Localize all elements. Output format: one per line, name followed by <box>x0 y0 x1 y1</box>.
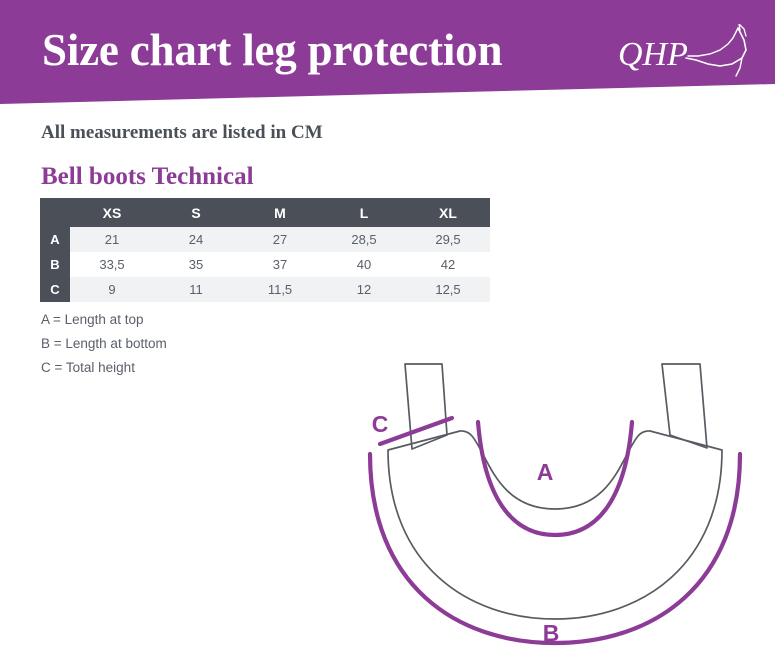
size-chart-table: XS S M L XL A 21 24 27 28,5 29,5 B 33,5 … <box>40 198 490 302</box>
cell-b-xl: 42 <box>406 252 490 277</box>
cell-a-xs: 21 <box>70 227 154 252</box>
bell-boot-diagram: A B C <box>350 345 775 661</box>
diagram-label-c: C <box>372 411 389 437</box>
page-title: Size chart leg protection <box>42 24 502 76</box>
legend-item-a: A = Length at top <box>41 308 167 332</box>
measurement-unit-note: All measurements are listed in CM <box>41 121 323 145</box>
diagram-label-a: A <box>537 459 554 485</box>
cell-b-xs: 33,5 <box>70 252 154 277</box>
measurement-legend: A = Length at top B = Length at bottom C… <box>41 308 167 380</box>
horse-head-icon <box>684 24 762 82</box>
cell-c-s: 11 <box>154 277 238 302</box>
cell-b-m: 37 <box>238 252 322 277</box>
row-label-c: C <box>40 277 70 302</box>
cell-b-s: 35 <box>154 252 238 277</box>
column-header-m: M <box>238 198 322 227</box>
row-label-a: A <box>40 227 70 252</box>
column-header-s: S <box>154 198 238 227</box>
cell-b-l: 40 <box>322 252 406 277</box>
legend-item-b: B = Length at bottom <box>41 332 167 356</box>
table-header-row: XS S M L XL <box>40 198 490 227</box>
measure-arc-b <box>370 454 740 643</box>
column-header-l: L <box>322 198 406 227</box>
legend-item-c: C = Total height <box>41 356 167 380</box>
cell-a-m: 27 <box>238 227 322 252</box>
cell-c-m: 11,5 <box>238 277 322 302</box>
qhp-logo: QHP <box>618 26 763 84</box>
column-header-xl: XL <box>406 198 490 227</box>
diagram-label-b: B <box>543 620 560 646</box>
logo-wordmark: QHP <box>618 38 688 72</box>
boot-body-outline <box>388 431 722 619</box>
cell-a-xl: 29,5 <box>406 227 490 252</box>
measure-line-c <box>380 418 452 444</box>
section-title: Bell boots Technical <box>41 162 254 192</box>
cell-c-l: 12 <box>322 277 406 302</box>
measure-arc-a <box>478 422 632 535</box>
cell-c-xs: 9 <box>70 277 154 302</box>
table-corner-cell <box>40 198 70 227</box>
table-row: A 21 24 27 28,5 29,5 <box>40 227 490 252</box>
row-label-b: B <box>40 252 70 277</box>
cell-a-s: 24 <box>154 227 238 252</box>
cell-c-xl: 12,5 <box>406 277 490 302</box>
table-row: C 9 11 11,5 12 12,5 <box>40 277 490 302</box>
column-header-xs: XS <box>70 198 154 227</box>
table-row: B 33,5 35 37 40 42 <box>40 252 490 277</box>
cell-a-l: 28,5 <box>322 227 406 252</box>
